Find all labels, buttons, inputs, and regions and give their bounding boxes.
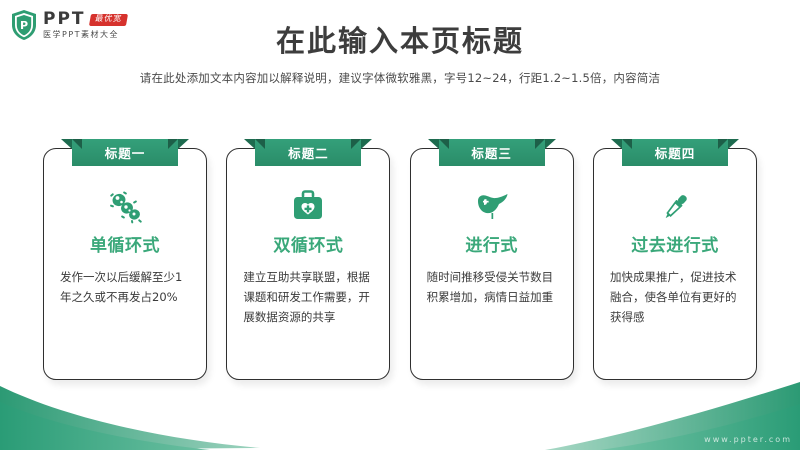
- content-card[interactable]: 标题二 双循环式 建立互助共享联盟，根据课题和研发工作需要，开展数据资源的共享: [226, 148, 390, 380]
- card-body-text: 加快成果推广，促进技术融合，使各单位有更好的获得感: [610, 267, 742, 327]
- card-body-text: 发作一次以后缓解至少1年之久或不再发占20%: [60, 267, 192, 307]
- card-title: 双循环式: [227, 231, 389, 256]
- card-title: 单循环式: [44, 231, 206, 256]
- page-title: 在此输入本页标题: [0, 18, 800, 60]
- card-ribbon-label: 标题三: [471, 143, 512, 162]
- card-row: 标题一: [43, 148, 757, 380]
- card-ribbon: 标题四: [622, 139, 728, 166]
- ribbon-fold-left: [622, 139, 632, 149]
- bacteria-icon: [44, 187, 206, 227]
- ribbon-fold-left: [255, 139, 265, 149]
- card-ribbon-label: 标题一: [105, 143, 146, 162]
- site-watermark: www.ppter.com: [704, 435, 792, 444]
- card-title: 进行式: [411, 231, 573, 256]
- card-title: 过去进行式: [594, 231, 756, 256]
- card-body-text: 随时间推移受侵关节数目积累增加，病情日益加重: [427, 267, 559, 307]
- content-card[interactable]: 标题四 过去进行式 加快成果推广，促进技术融合，使各单位有更好的获得感: [593, 148, 757, 380]
- card-ribbon: 标题二: [255, 139, 361, 166]
- ribbon-fold-left: [439, 139, 449, 149]
- content-card[interactable]: 标题一: [43, 148, 207, 380]
- content-card[interactable]: 标题三 进行式 随时间推移受侵关节数目积累增加，病情日益加重: [410, 148, 574, 380]
- bottom-wave-decoration: [0, 380, 800, 450]
- ribbon-fold-left: [72, 139, 82, 149]
- ribbon-fold-right: [168, 139, 178, 149]
- card-body-text: 建立互助共享联盟，根据课题和研发工作需要，开展数据资源的共享: [243, 267, 375, 327]
- liver-icon: [411, 187, 573, 227]
- ribbon-fold-right: [351, 139, 361, 149]
- medical-kit-icon: [227, 187, 389, 227]
- page-subtitle: 请在此处添加文本内容加以解释说明，建议字体微软雅黑，字号12~24，行距1.2~…: [0, 70, 800, 86]
- ribbon-fold-right: [718, 139, 728, 149]
- card-ribbon-label: 标题二: [288, 143, 329, 162]
- card-ribbon-label: 标题四: [655, 143, 696, 162]
- slide-canvas: P PPT 最优宽 医学PPT素材大全 在此输入本页标题 请在此处添加文本内容加…: [0, 0, 800, 450]
- dropper-icon: [594, 187, 756, 227]
- card-ribbon: 标题三: [439, 139, 545, 166]
- ribbon-fold-right: [535, 139, 545, 149]
- card-ribbon: 标题一: [72, 139, 178, 166]
